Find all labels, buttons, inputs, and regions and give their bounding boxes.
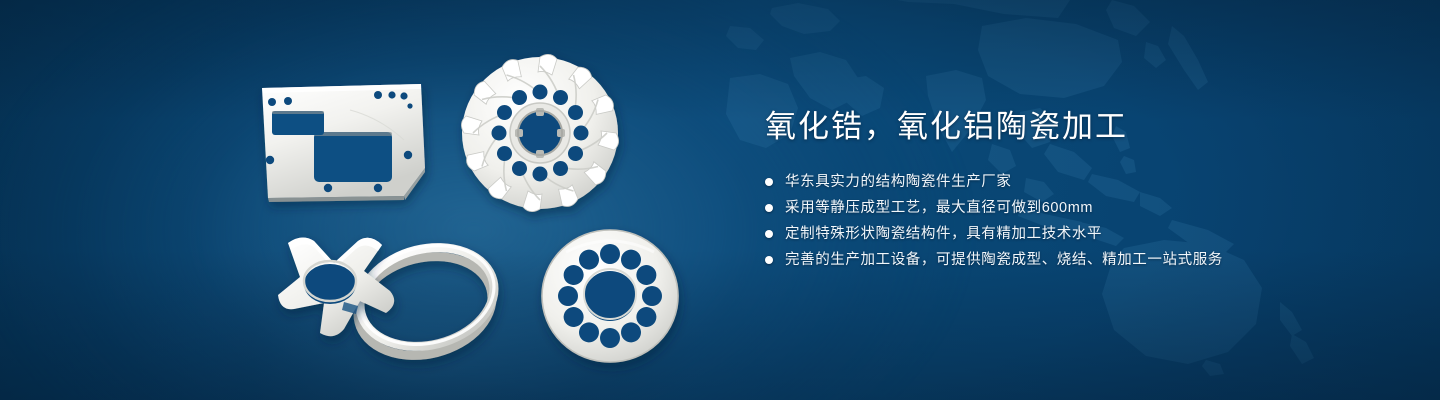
promo-banner: 氧化锆，氧化铝陶瓷加工 华东具实力的结构陶瓷件生产厂家 采用等静压成型工艺，最大… — [0, 0, 1440, 400]
feature-label-3: 定制特殊形状陶瓷结构件，具有精加工技术水平 — [785, 225, 1102, 244]
feature-item-4: 完善的生产加工设备，可提供陶瓷成型、烧结、精加工一站式服务 — [765, 251, 1385, 270]
feature-item-2: 采用等静压成型工艺，最大直径可做到600mm — [765, 199, 1385, 218]
feature-list: 华东具实力的结构陶瓷件生产厂家 采用等静压成型工艺，最大直径可做到600mm 定… — [765, 173, 1385, 270]
feature-item-1: 华东具实力的结构陶瓷件生产厂家 — [765, 173, 1385, 192]
background-bottom-shade — [0, 250, 1440, 400]
page-title: 氧化锆，氧化铝陶瓷加工 — [765, 108, 1385, 147]
feature-label-2: 采用等静压成型工艺，最大直径可做到600mm — [785, 199, 1093, 218]
feature-label-1: 华东具实力的结构陶瓷件生产厂家 — [785, 173, 1012, 192]
bullet-dot-icon — [765, 178, 773, 186]
bullet-dot-icon — [765, 204, 773, 212]
banner-copy: 氧化锆，氧化铝陶瓷加工 华东具实力的结构陶瓷件生产厂家 采用等静压成型工艺，最大… — [765, 108, 1385, 270]
bullet-dot-icon — [765, 256, 773, 264]
bullet-dot-icon — [765, 230, 773, 238]
background-top-shade — [0, 0, 1440, 120]
feature-label-4: 完善的生产加工设备，可提供陶瓷成型、烧结、精加工一站式服务 — [785, 251, 1223, 270]
feature-item-3: 定制特殊形状陶瓷结构件，具有精加工技术水平 — [765, 225, 1385, 244]
